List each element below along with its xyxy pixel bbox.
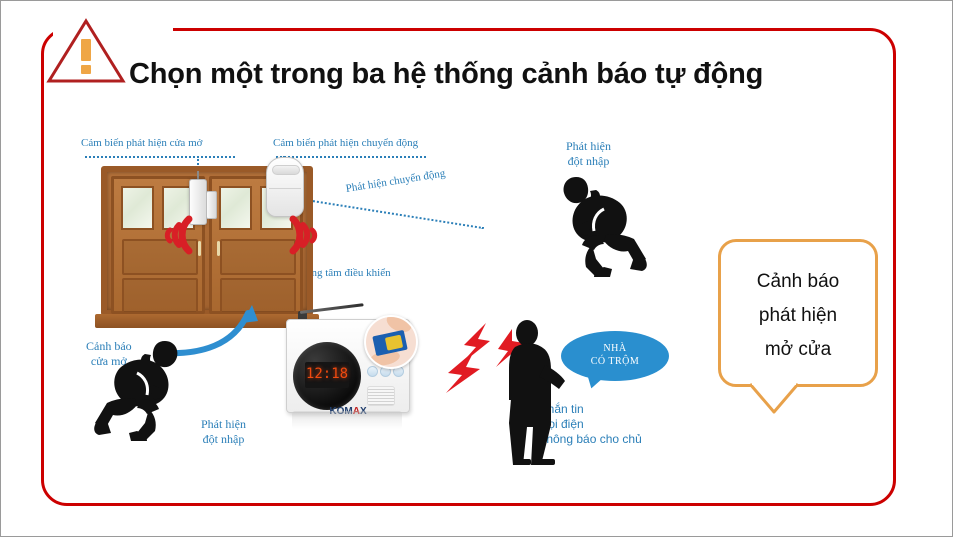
speech-bubble-text: NHÀ CÓ TRỘM: [561, 342, 669, 368]
callout-tail: [748, 382, 818, 421]
label-motion-sensor: Cảm biến phát hiện chuyển động: [273, 137, 418, 150]
page-title: Chọn một trong ba hệ thống cảnh báo tự đ…: [129, 58, 889, 91]
control-panel-time: 12:18: [305, 366, 349, 382]
door-panel: [220, 239, 296, 275]
motion-sensor-seam: [269, 188, 301, 189]
door-handle: [198, 241, 201, 256]
label-intrusion-right: Phát hiện đột nhập: [566, 139, 611, 169]
control-panel-reflection: [292, 411, 402, 429]
door-sensor-magnet: [206, 191, 217, 219]
label-motion-detected: Phát hiện chuyển động: [345, 167, 446, 196]
connector-door-sensor: [85, 156, 235, 158]
control-panel-button[interactable]: [367, 366, 378, 377]
callout-alert: Cảnh báo phát hiện mở cửa: [718, 239, 878, 411]
slide-canvas: Chọn một trong ba hệ thống cảnh báo tự đ…: [0, 0, 953, 537]
callout-text: Cảnh báo phát hiện mở cửa: [718, 265, 878, 367]
control-panel-display-disc: 12:18: [293, 342, 361, 410]
connector-motion-sensor: [276, 156, 426, 158]
control-panel-device: 12:18 KOMAX: [286, 309, 414, 421]
warning-triangle-icon: [45, 15, 127, 87]
sim-card: [372, 330, 407, 356]
control-panel-speaker: [367, 386, 395, 406]
speech-bubble-tail: [581, 367, 610, 391]
motion-signal-waves-icon: [287, 213, 343, 257]
door-handle: [217, 241, 220, 256]
burglar-silhouette-left: [91, 333, 201, 443]
control-panel-lcd: 12:18: [305, 362, 349, 388]
door-signal-waves-icon: [139, 213, 195, 257]
door-pane: [219, 186, 252, 230]
sim-card-inset: [364, 315, 418, 369]
speech-bubble: NHÀ CÓ TRỘM: [561, 331, 669, 387]
alarm-system-diagram: Cảm biến phát hiện cửa mở Cảm biến phát …: [61, 121, 761, 481]
motion-sensor-device: [266, 157, 304, 217]
label-intrusion-left: Phát hiện đột nhập: [201, 417, 246, 447]
sim-chip: [385, 335, 403, 351]
burglar-silhouette-right: [546, 169, 656, 279]
label-door-sensor: Cảm biến phát hiện cửa mở: [81, 137, 202, 150]
motion-sensor-lens: [272, 165, 300, 175]
